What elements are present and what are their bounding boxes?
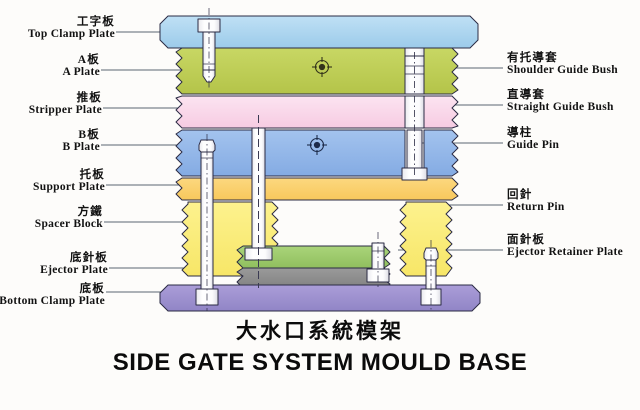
diagram-title: 大水口系統模架 SIDE GATE SYSTEM MOULD BASE [0, 315, 640, 377]
label-en: Guide Pin [507, 139, 559, 151]
label-cn: 回針 [507, 189, 565, 201]
label-ejector-plate: 底針板 Ejector Plate [0, 252, 108, 277]
label-b-plate: B板 B Plate [0, 129, 100, 154]
label-shoulder-guide-bush: 有托導套 Shoulder Guide Bush [507, 52, 618, 77]
stripper-plate [176, 96, 405, 128]
label-en: Support Plate [0, 181, 105, 193]
label-cn: 底針板 [0, 252, 108, 264]
label-support-plate: 托板 Support Plate [0, 169, 105, 194]
label-en: Spacer Block [0, 218, 103, 230]
shoulder-guide-bush [405, 56, 424, 94]
label-guide-pin: 導柱 Guide Pin [507, 127, 559, 152]
b-plate-right [424, 130, 458, 176]
title-english: SIDE GATE SYSTEM MOULD BASE [0, 349, 640, 377]
label-cn: B板 [0, 129, 100, 141]
label-ejector-retainer-plate: 面針板 Ejector Retainer Plate [507, 234, 623, 259]
label-en: Straight Guide Bush [507, 101, 614, 113]
label-a-plate: A板 A Plate [0, 54, 100, 79]
mould-base-diagram: 工字板 Top Clamp Plate A板 A Plate 推板 Stripp… [0, 0, 640, 410]
support-plate [176, 178, 458, 200]
label-en: Return Pin [507, 201, 565, 213]
label-en: Top Clamp Plate [0, 28, 115, 40]
label-cn: 面針板 [507, 234, 623, 246]
label-cn: 直導套 [507, 89, 614, 101]
a-plate-right [424, 48, 458, 94]
label-return-pin: 回針 Return Pin [507, 189, 565, 214]
label-stripper-plate: 推板 Stripper Plate [0, 92, 102, 117]
label-en: Bottom Clamp Plate [0, 295, 105, 307]
label-cn: 有托導套 [507, 52, 618, 64]
label-cn: A板 [0, 54, 100, 66]
label-en: Stripper Plate [0, 104, 102, 116]
label-cn: 導柱 [507, 127, 559, 139]
label-straight-guide-bush: 直導套 Straight Guide Bush [507, 89, 614, 114]
stripper-plate-right [424, 96, 458, 128]
title-chinese: 大水口系統模架 [0, 315, 640, 345]
label-en: Ejector Retainer Plate [507, 246, 623, 258]
label-en: B Plate [0, 141, 100, 153]
label-bottom-clamp-plate: 底板 Bottom Clamp Plate [0, 283, 105, 308]
label-en: Ejector Plate [0, 264, 108, 276]
label-en: A Plate [0, 66, 100, 78]
label-cn: 工字板 [0, 16, 115, 28]
label-en: Shoulder Guide Bush [507, 64, 618, 76]
label-cn: 方鐵 [0, 206, 103, 218]
label-top-clamp-plate: 工字板 Top Clamp Plate [0, 16, 115, 41]
label-cn: 推板 [0, 92, 102, 104]
label-cn: 底板 [0, 283, 105, 295]
label-spacer-block: 方鐵 Spacer Block [0, 206, 103, 231]
label-cn: 托板 [0, 169, 105, 181]
